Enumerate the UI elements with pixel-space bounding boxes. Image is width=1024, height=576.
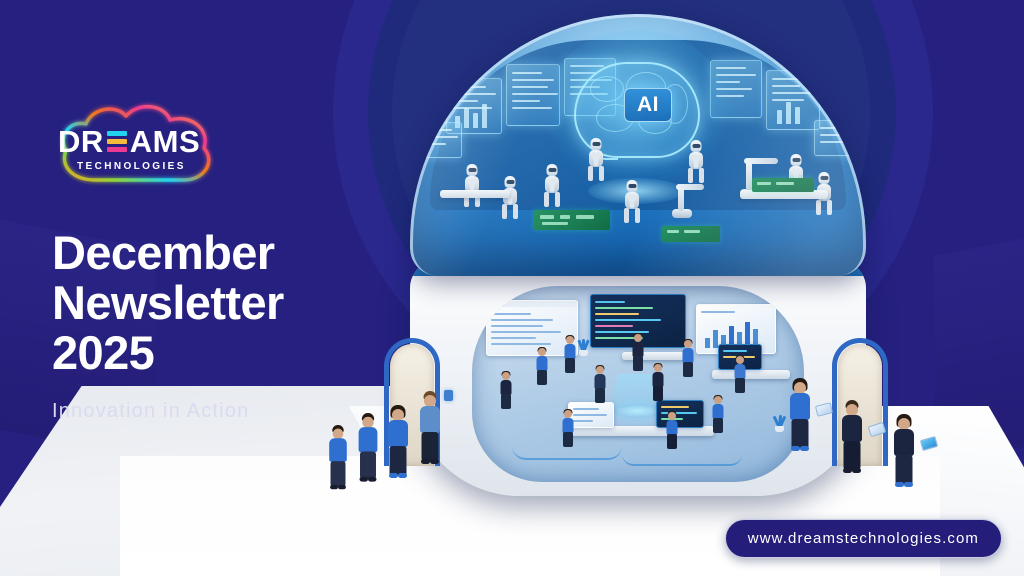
floor-cable <box>622 454 742 466</box>
website-url-badge[interactable]: www.dreamstechnologies.com <box>725 519 1002 558</box>
door-access-panel[interactable] <box>444 390 453 401</box>
holo-screen-left-edge <box>422 122 462 158</box>
holo-screen-right-edge <box>814 120 854 156</box>
hero-text-block: DR AMS TECHNOLOGIES December Newsletter … <box>52 100 412 423</box>
office-desk-right <box>712 370 790 379</box>
circuit-board <box>534 210 610 230</box>
floor-cable <box>512 446 622 460</box>
logo-e-bars-icon <box>107 128 127 154</box>
holo-screen <box>766 70 820 130</box>
desk-monitor-left <box>568 402 614 428</box>
circuit-board-on-bench <box>752 178 814 192</box>
lab-bench-left <box>440 190 510 198</box>
ai-label: AI <box>624 88 672 122</box>
office-plant <box>576 338 590 356</box>
logo-text-before-e: DR <box>58 126 104 157</box>
robotic-arm <box>672 174 712 218</box>
logo-wordmark: DR AMS TECHNOLOGIES <box>58 124 224 172</box>
office-cutaway <box>472 286 804 482</box>
brand-logo[interactable]: DR AMS TECHNOLOGIES <box>52 100 224 192</box>
office-plant-right <box>772 414 786 432</box>
lab-dome-illustration: AI <box>392 8 884 528</box>
glass-dome: AI <box>410 14 866 276</box>
logo-text-after-e: AMS <box>130 126 200 157</box>
newsletter-banner: DR AMS TECHNOLOGIES December Newsletter … <box>0 0 1024 576</box>
page-title: December Newsletter 2025 <box>52 228 412 378</box>
desk-monitor-right <box>656 400 704 428</box>
circuit-board <box>662 226 720 242</box>
logo-tagline: TECHNOLOGIES <box>58 161 224 172</box>
page-subtitle: Innovation in Action <box>52 400 412 423</box>
